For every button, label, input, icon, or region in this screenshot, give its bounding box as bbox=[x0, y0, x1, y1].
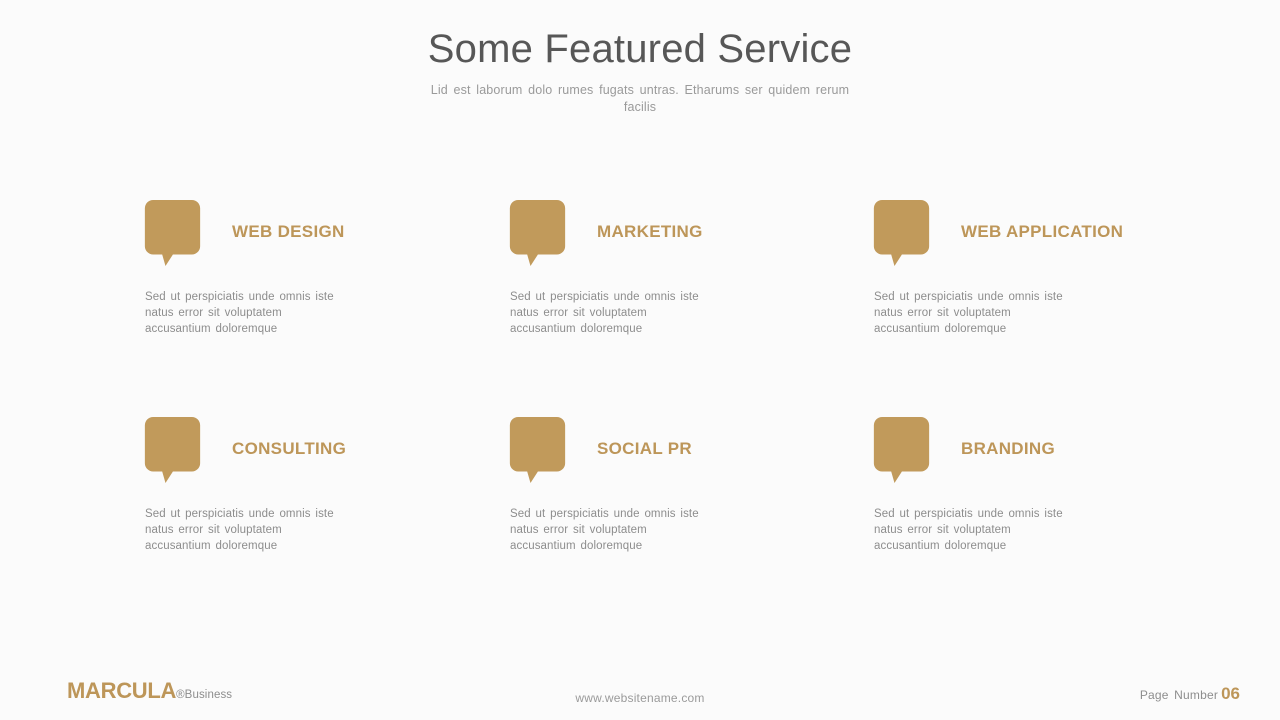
service-description-line: Sed ut perspiciatis unde omnis iste bbox=[874, 506, 1124, 522]
service-card[interactable]: WEB APPLICATION Sed ut perspiciatis unde… bbox=[868, 196, 1238, 278]
service-card-head: BRANDING bbox=[868, 413, 1238, 495]
service-card[interactable]: WEB DESIGN Sed ut perspiciatis unde omni… bbox=[139, 196, 509, 278]
service-card-head: MARKETING bbox=[504, 196, 874, 278]
service-card-head: WEB DESIGN bbox=[139, 196, 509, 278]
service-card-head: CONSULTING bbox=[139, 413, 509, 495]
service-description-line: Sed ut perspiciatis unde omnis iste bbox=[145, 506, 395, 522]
service-card-head: WEB APPLICATION bbox=[868, 196, 1238, 278]
service-description: Sed ut perspiciatis unde omnis iste natu… bbox=[510, 289, 760, 337]
service-description: Sed ut perspiciatis unde omnis iste natu… bbox=[874, 289, 1124, 337]
page-subtitle: Lid est laborum dolo rumes fugats untras… bbox=[430, 82, 850, 116]
service-description-line: Sed ut perspiciatis unde omnis iste bbox=[510, 506, 760, 522]
service-description-line: accusantium doloremque bbox=[874, 321, 1124, 337]
service-description-line: accusantium doloremque bbox=[510, 538, 760, 554]
service-description: Sed ut perspiciatis unde omnis iste natu… bbox=[145, 506, 395, 554]
speech-bubble-icon bbox=[868, 417, 935, 483]
services-row: WEB DESIGN Sed ut perspiciatis unde omni… bbox=[0, 196, 1280, 413]
service-title: WEB APPLICATION bbox=[961, 222, 1123, 242]
services-grid: WEB DESIGN Sed ut perspiciatis unde omni… bbox=[0, 196, 1280, 630]
service-description-line: natus error sit voluptatem bbox=[510, 522, 760, 538]
slide: Some Featured Service Lid est laborum do… bbox=[0, 0, 1280, 720]
service-card[interactable]: CONSULTING Sed ut perspiciatis unde omni… bbox=[139, 413, 509, 495]
service-card[interactable]: BRANDING Sed ut perspiciatis unde omnis … bbox=[868, 413, 1238, 495]
speech-bubble-icon bbox=[504, 417, 571, 483]
service-card[interactable]: SOCIAL PR Sed ut perspiciatis unde omnis… bbox=[504, 413, 874, 495]
speech-bubble-icon bbox=[504, 200, 571, 266]
page-number-label: Page Number bbox=[1140, 688, 1218, 702]
page-number-value: 06 bbox=[1221, 684, 1240, 703]
page-indicator: Page Number06 bbox=[1140, 684, 1240, 704]
service-description-line: accusantium doloremque bbox=[874, 538, 1124, 554]
service-card-head: SOCIAL PR bbox=[504, 413, 874, 495]
service-description-line: natus error sit voluptatem bbox=[874, 305, 1124, 321]
services-row: CONSULTING Sed ut perspiciatis unde omni… bbox=[0, 413, 1280, 630]
service-title: CONSULTING bbox=[232, 439, 346, 459]
service-card[interactable]: MARKETING Sed ut perspiciatis unde omnis… bbox=[504, 196, 874, 278]
speech-bubble-icon bbox=[139, 200, 206, 266]
service-title: MARKETING bbox=[597, 222, 703, 242]
service-description-line: accusantium doloremque bbox=[510, 321, 760, 337]
service-description: Sed ut perspiciatis unde omnis iste natu… bbox=[145, 289, 395, 337]
service-description-line: natus error sit voluptatem bbox=[510, 305, 760, 321]
page-title: Some Featured Service bbox=[0, 26, 1280, 72]
service-title: WEB DESIGN bbox=[232, 222, 345, 242]
website-url: www.websitename.com bbox=[0, 691, 1280, 705]
slide-footer: MARCULA®Business www.websitename.com Pag… bbox=[0, 660, 1280, 720]
service-description-line: accusantium doloremque bbox=[145, 321, 395, 337]
service-description-line: natus error sit voluptatem bbox=[145, 522, 395, 538]
speech-bubble-icon bbox=[868, 200, 935, 266]
service-description-line: natus error sit voluptatem bbox=[874, 522, 1124, 538]
service-description-line: natus error sit voluptatem bbox=[145, 305, 395, 321]
service-title: BRANDING bbox=[961, 439, 1055, 459]
speech-bubble-icon bbox=[139, 417, 206, 483]
service-description-line: Sed ut perspiciatis unde omnis iste bbox=[145, 289, 395, 305]
service-description-line: Sed ut perspiciatis unde omnis iste bbox=[510, 289, 760, 305]
service-description-line: Sed ut perspiciatis unde omnis iste bbox=[874, 289, 1124, 305]
service-description: Sed ut perspiciatis unde omnis iste natu… bbox=[874, 506, 1124, 554]
service-description-line: accusantium doloremque bbox=[145, 538, 395, 554]
service-title: SOCIAL PR bbox=[597, 439, 692, 459]
service-description: Sed ut perspiciatis unde omnis iste natu… bbox=[510, 506, 760, 554]
slide-header: Some Featured Service Lid est laborum do… bbox=[0, 26, 1280, 116]
